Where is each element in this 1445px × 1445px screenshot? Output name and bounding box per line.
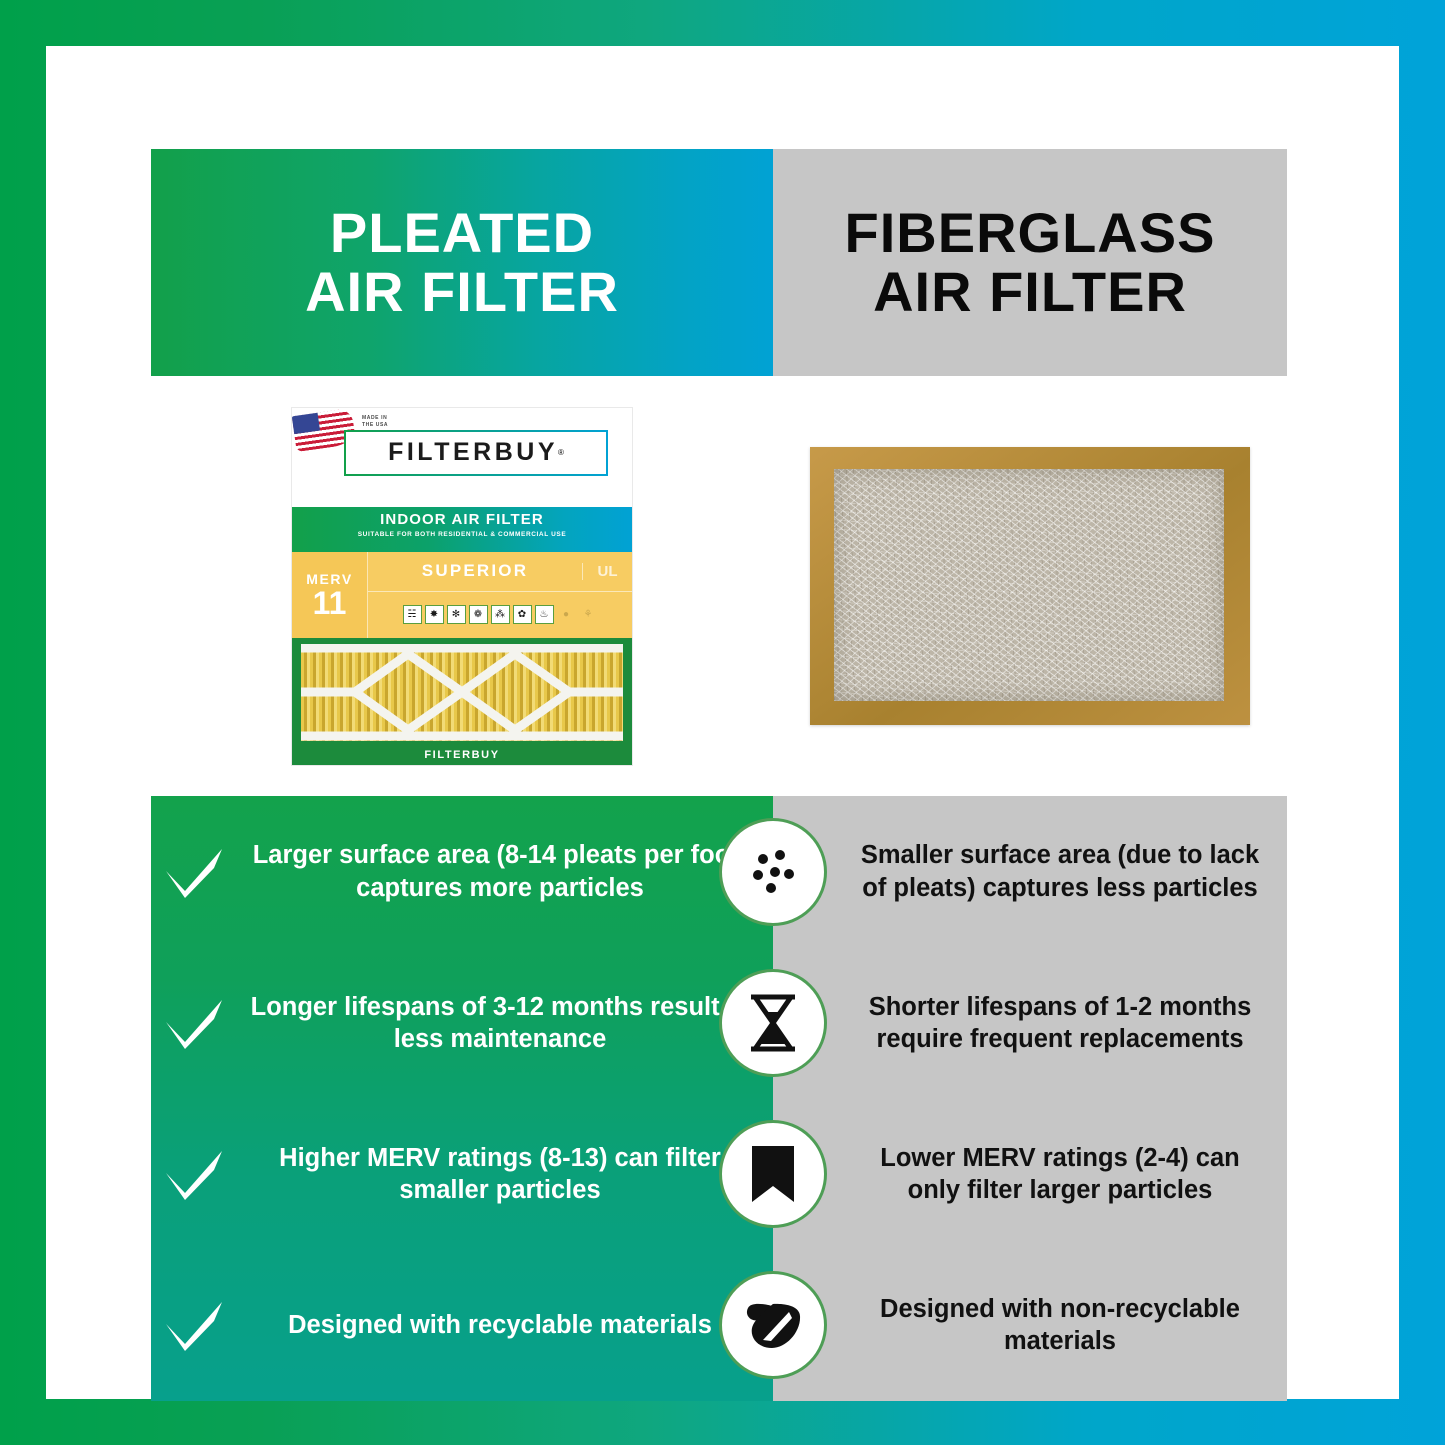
banner-title: INDOOR AIR FILTER — [292, 511, 632, 528]
filterbuy-brand-text: FILTERBUY — [388, 438, 558, 467]
header-fiberglass-line2: AIR FILTER — [873, 263, 1187, 321]
fiberglass-media — [834, 469, 1224, 701]
comparison-row: Longer lifespans of 3-12 months result i… — [151, 947, 1287, 1098]
merv-value: 11 — [313, 587, 347, 619]
row-left-cell: Higher MERV ratings (8-13) can filter sm… — [151, 1142, 773, 1207]
pollen-icon: ✻ — [447, 605, 466, 624]
made-in-line2: THE USA — [362, 422, 388, 430]
made-in-usa-text: MADE IN THE USA — [362, 415, 388, 430]
leaf-icon — [719, 1271, 827, 1379]
checkmark-icon — [151, 1148, 237, 1200]
tier-row: SUPERIOR UL — [368, 552, 632, 592]
package-banner: INDOOR AIR FILTER SUITABLE FOR BOTH RESI… — [292, 507, 632, 552]
pleated-media-window: FILTERBUY — [292, 638, 632, 765]
checkmark-icon — [151, 997, 237, 1049]
bookmark-icon — [719, 1120, 827, 1228]
package-footer-brand: FILTERBUY — [292, 749, 632, 761]
virus-icon-faded: ⚘ — [579, 605, 598, 624]
comparison-row: Larger surface area (8-14 pleats per foo… — [151, 796, 1287, 947]
dust-mite-icon: ✸ — [425, 605, 444, 624]
support-lattice — [301, 644, 623, 741]
particles-icon — [719, 818, 827, 926]
fiberglass-filter-image — [810, 447, 1250, 725]
header-fiberglass-line1: FIBERGLASS — [845, 204, 1216, 262]
capture-icon-row: ☵ ✸ ✻ ❁ ⁂ ✿ ♨ ● ⚘ — [368, 592, 632, 638]
checkmark-icon — [151, 846, 237, 898]
header-pleated: PLEATED AIR FILTER — [151, 149, 773, 376]
comparison-card: PLEATED AIR FILTER FIBERGLASS AIR FILTER — [151, 149, 1287, 1291]
odor-icon-faded: ● — [557, 605, 576, 624]
row-left-text: Larger surface area (8-14 pleats per foo… — [247, 839, 753, 904]
merv-block: MERV 11 — [292, 552, 368, 638]
white-matte: PLEATED AIR FILTER FIBERGLASS AIR FILTER — [46, 46, 1399, 1399]
row-left-cell: Larger surface area (8-14 pleats per foo… — [151, 839, 773, 904]
header-fiberglass: FIBERGLASS AIR FILTER — [773, 149, 1287, 376]
row-left-text: Higher MERV ratings (8-13) can filter sm… — [247, 1142, 753, 1207]
package-spec-band: MERV 11 SUPERIOR UL ☵ ✸ — [292, 552, 632, 638]
row-right-text: Shorter lifespans of 1-2 months require … — [773, 991, 1287, 1056]
dust-icon: ☵ — [403, 605, 422, 624]
comparison-rows: Larger surface area (8-14 pleats per foo… — [151, 796, 1287, 1401]
row-left-text: Designed with recyclable materials — [247, 1309, 753, 1341]
product-image-band: MADE IN THE USA FILTERBUY® INDOOR AIR FI… — [151, 376, 1287, 796]
made-in-line1: MADE IN — [362, 415, 388, 423]
filterbuy-logo: FILTERBUY® — [344, 430, 608, 476]
row-right-text: Smaller surface area (due to lack of ple… — [773, 839, 1287, 904]
bacteria-icon: ⁂ — [491, 605, 510, 624]
row-left-cell: Designed with recyclable materials — [151, 1299, 773, 1351]
row-left-text: Longer lifespans of 3-12 months result i… — [247, 991, 753, 1056]
smoke-icon: ♨ — [535, 605, 554, 624]
header-pleated-line1: PLEATED — [330, 204, 594, 262]
pleated-product-cell: MADE IN THE USA FILTERBUY® INDOOR AIR FI… — [151, 376, 773, 796]
package-top: MADE IN THE USA FILTERBUY® — [292, 408, 632, 507]
hourglass-icon — [719, 969, 827, 1077]
comparison-row: Higher MERV ratings (8-13) can filter sm… — [151, 1099, 1287, 1250]
header-band: PLEATED AIR FILTER FIBERGLASS AIR FILTER — [151, 149, 1287, 376]
checkmark-icon — [151, 1299, 237, 1351]
mold-spore-icon: ❁ — [469, 605, 488, 624]
outer-gradient-border: PLEATED AIR FILTER FIBERGLASS AIR FILTER — [0, 0, 1445, 1445]
pet-dander-icon: ✿ — [513, 605, 532, 624]
pleated-filter-package: MADE IN THE USA FILTERBUY® INDOOR AIR FI… — [292, 408, 632, 765]
comparison-section: Larger surface area (8-14 pleats per foo… — [151, 796, 1287, 1401]
header-pleated-line2: AIR FILTER — [305, 263, 619, 321]
registered-mark: ® — [558, 448, 564, 457]
banner-subtitle: SUITABLE FOR BOTH RESIDENTIAL & COMMERCI… — [292, 531, 632, 538]
comparison-row: Designed with recyclable materials — [151, 1250, 1287, 1401]
tier-label: SUPERIOR — [368, 561, 582, 581]
row-right-text: Lower MERV ratings (2-4) can only filter… — [773, 1142, 1287, 1207]
row-right-text: Designed with non-recyclable materials — [773, 1293, 1287, 1358]
fiberglass-product-cell — [773, 376, 1287, 796]
spec-right: SUPERIOR UL ☵ ✸ ✻ ❁ ⁂ ✿ — [368, 552, 632, 638]
ul-certification-icon: UL — [582, 563, 632, 580]
row-left-cell: Longer lifespans of 3-12 months result i… — [151, 991, 773, 1056]
